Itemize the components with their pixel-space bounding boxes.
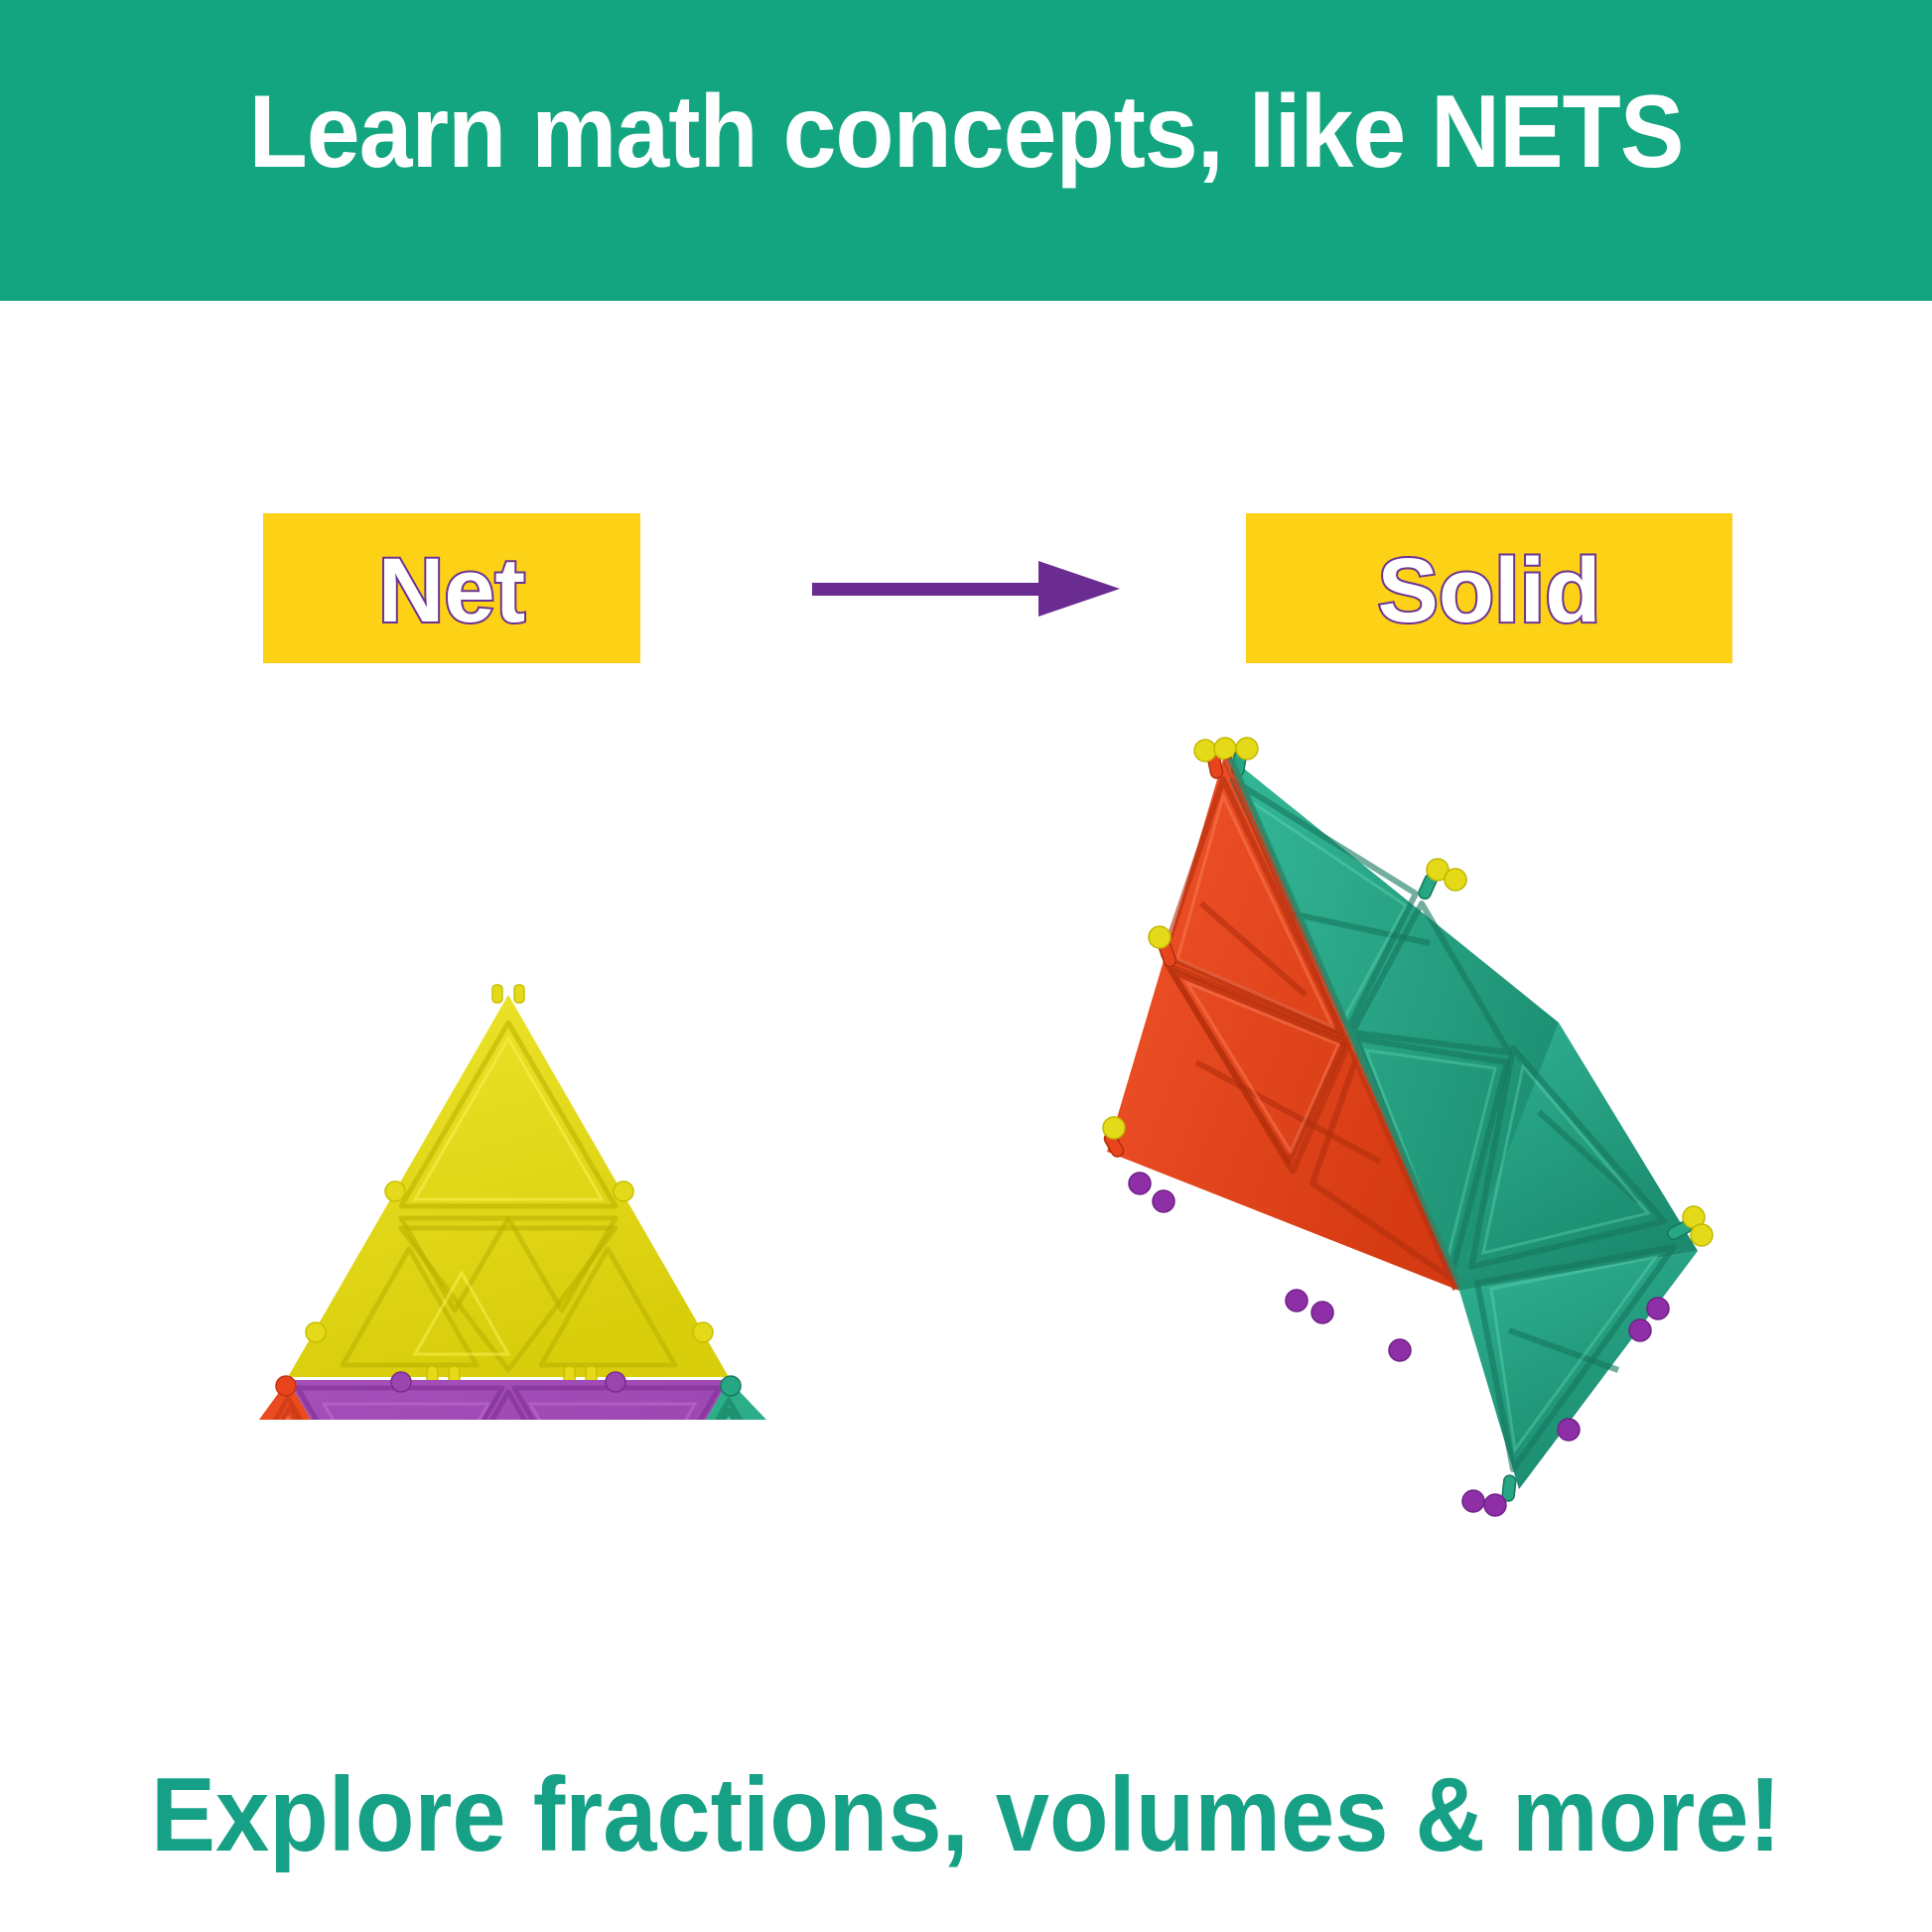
header-band: Learn math concepts, like NETS — [0, 0, 1932, 301]
net-label-text: Net — [378, 545, 525, 636]
net-panel-center — [288, 1372, 729, 1420]
footer-tagline: Explore fractions, volumes & more! — [77, 1759, 1855, 1870]
page-title: Learn math concepts, like NETS — [68, 77, 1864, 187]
net-panel-top — [288, 983, 735, 1386]
solid-label-chip: Solid — [1246, 513, 1732, 663]
net-label-chip: Net — [263, 513, 640, 663]
solid-photo — [1102, 735, 1737, 1628]
solid-label-text: Solid — [1378, 545, 1601, 636]
arrow-head — [1038, 561, 1120, 617]
arrow-shaft — [812, 583, 1050, 596]
arrow-right-icon — [812, 561, 1120, 617]
poster-canvas: Learn math concepts, like NETS Net Solid — [0, 0, 1932, 1932]
net-photo — [0, 983, 1122, 1420]
